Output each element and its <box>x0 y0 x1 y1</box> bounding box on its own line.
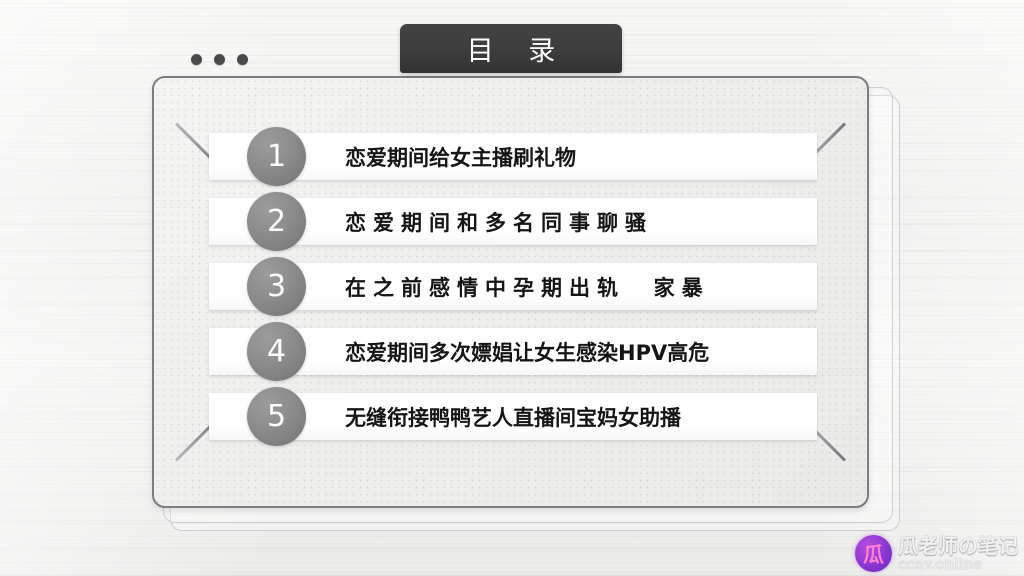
list-item-label: 恋爱期间给女主播刷礼物 <box>345 133 576 180</box>
watermark-subtitle: ccav.online <box>898 557 1018 572</box>
list-item[interactable]: 5 无缝衔接鸭鸭艺人直播间宝妈女助播 <box>209 393 817 440</box>
title-banner: 目 录 <box>400 24 622 73</box>
list-item[interactable]: 3 在之前感情中孕期出轨 家暴 <box>209 263 817 310</box>
list-item-label: 无缝衔接鸭鸭艺人直播间宝妈女助播 <box>345 393 681 440</box>
watermark: 瓜 瓜老师の笔记 ccav.online <box>855 535 1018 572</box>
main-panel: 1 恋爱期间给女主播刷礼物 2 恋爱期间和多名同事聊骚 3 在之前感情中孕期出轨… <box>152 76 869 508</box>
list-item-number: 4 <box>247 322 306 381</box>
window-dot-2 <box>214 54 225 65</box>
list-item[interactable]: 4 恋爱期间多次嫖娼让女生感染HPV高危 <box>209 328 817 375</box>
list-item-number: 2 <box>247 192 306 251</box>
list-item-number: 3 <box>247 257 306 316</box>
watermark-text: 瓜老师の笔记 ccav.online <box>898 536 1018 572</box>
page-title: 目 录 <box>454 29 569 68</box>
list-item-label: 恋爱期间和多名同事聊骚 <box>345 198 653 245</box>
list-item[interactable]: 2 恋爱期间和多名同事聊骚 <box>209 198 817 245</box>
list-item-number: 1 <box>247 127 306 186</box>
watermark-title: 瓜老师の笔记 <box>898 536 1018 556</box>
window-dot-1 <box>191 54 202 65</box>
list-item-label: 恋爱期间多次嫖娼让女生感染HPV高危 <box>345 328 709 375</box>
list-item-label: 在之前感情中孕期出轨 家暴 <box>345 263 710 310</box>
list-item[interactable]: 1 恋爱期间给女主播刷礼物 <box>209 133 817 180</box>
list-item-number: 5 <box>247 387 306 446</box>
window-dot-3 <box>237 54 248 65</box>
window-dots <box>191 54 248 65</box>
table-of-contents-list: 1 恋爱期间给女主播刷礼物 2 恋爱期间和多名同事聊骚 3 在之前感情中孕期出轨… <box>209 133 817 440</box>
watermark-logo-icon: 瓜 <box>855 535 892 572</box>
